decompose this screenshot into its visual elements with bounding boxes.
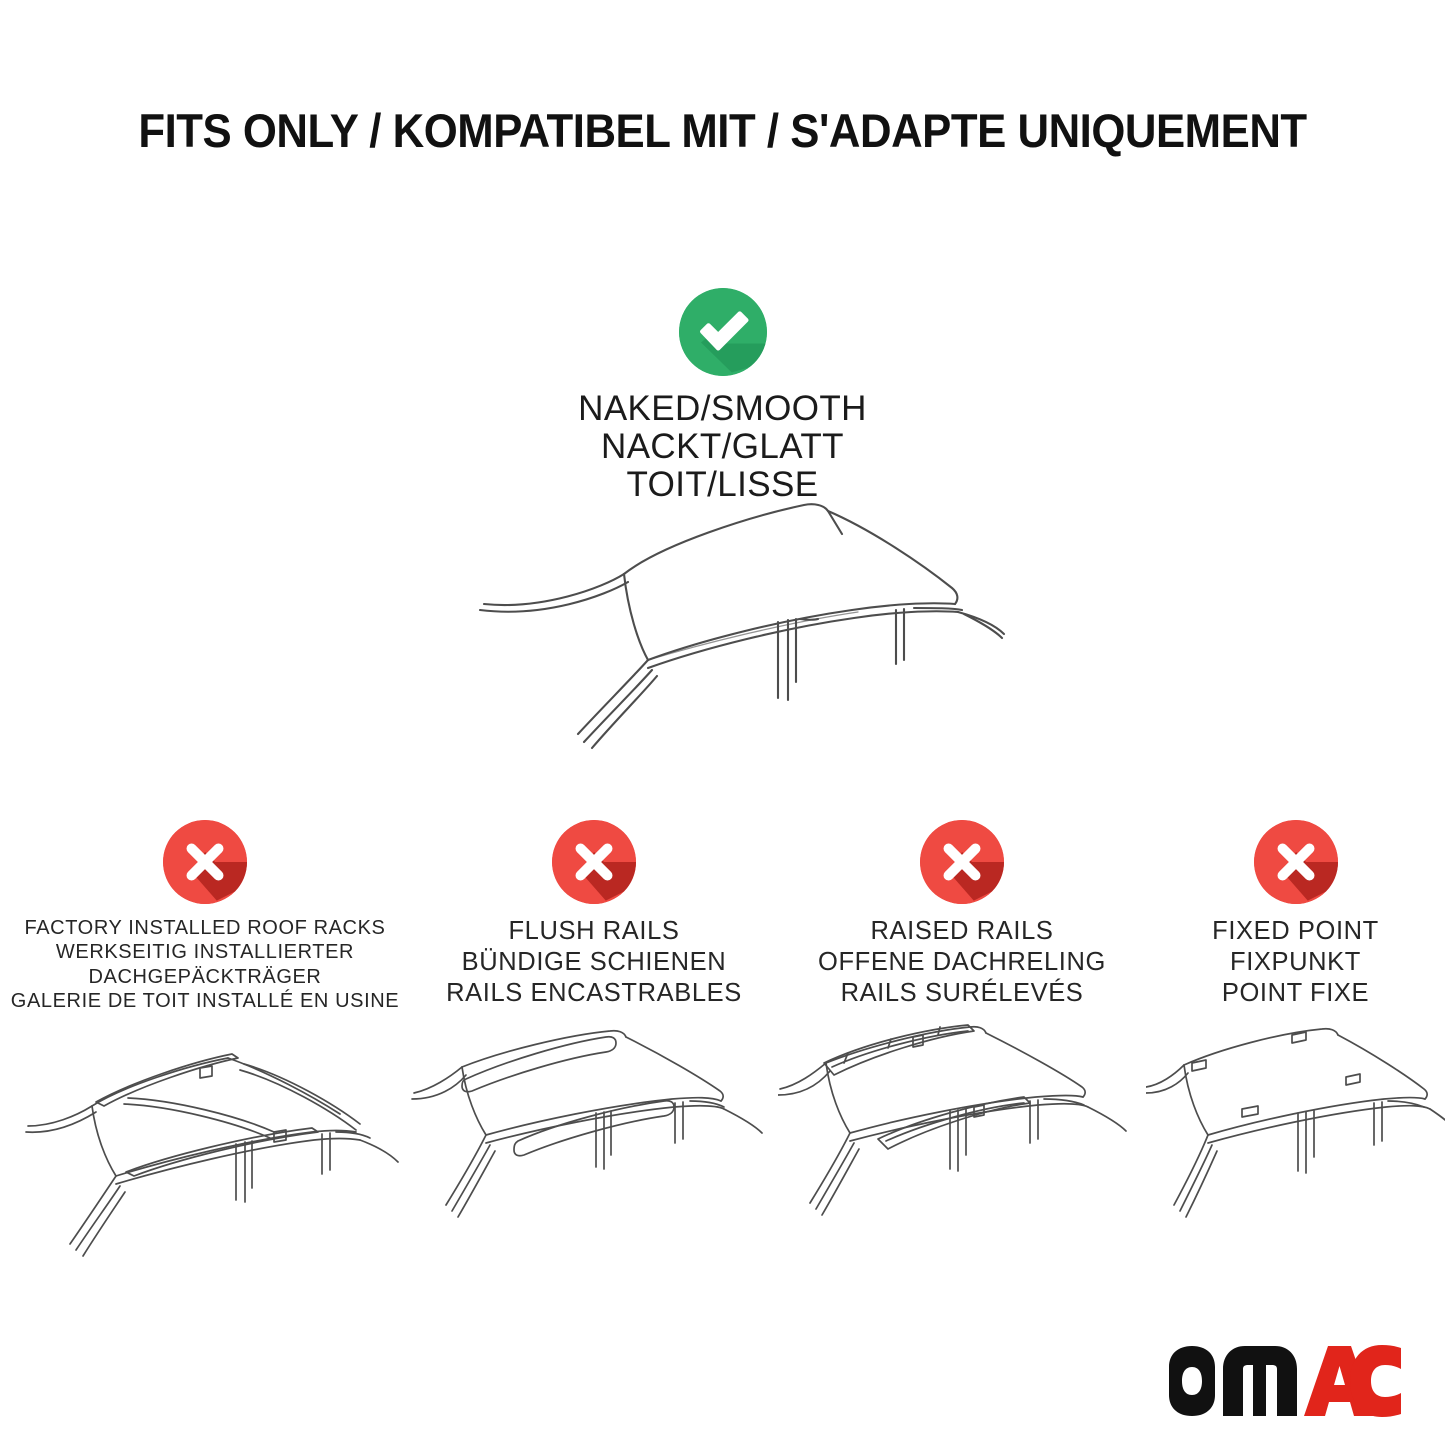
car-roof-flush-rails-illustration (410, 1023, 778, 1263)
compatible-labels: NAKED/SMOOTH NACKT/GLATT TOIT/LISSE (578, 390, 867, 503)
logo-letter-c (1350, 1345, 1401, 1417)
incompatible-label-fr: RAILS ENCASTRABLES (446, 978, 742, 1009)
incompatible-label-de: FIXPUNKT (1212, 947, 1379, 978)
logo-letter-m (1223, 1346, 1297, 1416)
compatible-label-en: NAKED/SMOOTH (578, 390, 867, 428)
incompatible-labels: RAISED RAILS OFFENE DACHRELING RAILS SUR… (818, 916, 1106, 1009)
fitment-infographic: FITS ONLY / KOMPATIBEL MIT / S'ADAPTE UN… (0, 0, 1445, 1445)
check-circle-icon (679, 288, 767, 376)
car-roof-factory-rack-illustration (0, 1028, 410, 1268)
incompatible-label-en: FACTORY INSTALLED ROOF RACKS (11, 916, 399, 940)
page-title: FITS ONLY / KOMPATIBEL MIT / S'ADAPTE UN… (51, 103, 1395, 158)
incompatible-label-en: FLUSH RAILS (446, 916, 742, 947)
incompatible-item-fixed-point: FIXED POINT FIXPUNKT POINT FIXE (1146, 820, 1445, 1263)
x-circle-icon (552, 820, 636, 904)
car-roof-raised-rails-illustration (778, 1023, 1146, 1263)
x-circle-icon (1254, 820, 1338, 904)
incompatible-label-de-2: DACHGEPÄCKTRÄGER (11, 965, 399, 989)
incompatible-item-factory-rack: FACTORY INSTALLED ROOF RACKS WERKSEITIG … (0, 820, 410, 1268)
incompatible-label-de: BÜNDIGE SCHIENEN (446, 947, 742, 978)
incompatible-label-fr: GALERIE DE TOIT INSTALLÉ EN USINE (11, 989, 399, 1013)
incompatible-labels: FLUSH RAILS BÜNDIGE SCHIENEN RAILS ENCAS… (446, 916, 742, 1009)
omac-logo (1165, 1345, 1401, 1417)
x-circle-icon (920, 820, 1004, 904)
incompatible-label-en: RAISED RAILS (818, 916, 1106, 947)
incompatible-label-de: OFFENE DACHRELING (818, 947, 1106, 978)
incompatible-label-fr: POINT FIXE (1212, 978, 1379, 1009)
incompatible-label-fr: RAILS SURÉLEVÉS (818, 978, 1106, 1009)
incompatible-label-en: FIXED POINT (1212, 916, 1379, 947)
compatible-section: NAKED/SMOOTH NACKT/GLATT TOIT/LISSE (0, 288, 1445, 503)
x-circle-icon (163, 820, 247, 904)
logo-letter-o (1169, 1346, 1215, 1416)
incompatible-item-flush-rails: FLUSH RAILS BÜNDIGE SCHIENEN RAILS ENCAS… (410, 820, 778, 1263)
incompatible-labels: FIXED POINT FIXPUNKT POINT FIXE (1212, 916, 1379, 1009)
incompatible-item-raised-rails: RAISED RAILS OFFENE DACHRELING RAILS SUR… (778, 820, 1146, 1263)
compatible-label-de: NACKT/GLATT (578, 428, 867, 466)
car-roof-naked-smooth-illustration (452, 492, 1012, 762)
car-roof-fixed-point-illustration (1146, 1023, 1445, 1263)
incompatible-labels: FACTORY INSTALLED ROOF RACKS WERKSEITIG … (11, 916, 399, 1014)
incompatible-label-de-1: WERKSEITIG INSTALLIERTER (11, 940, 399, 964)
incompatible-section: FACTORY INSTALLED ROOF RACKS WERKSEITIG … (0, 820, 1445, 1268)
